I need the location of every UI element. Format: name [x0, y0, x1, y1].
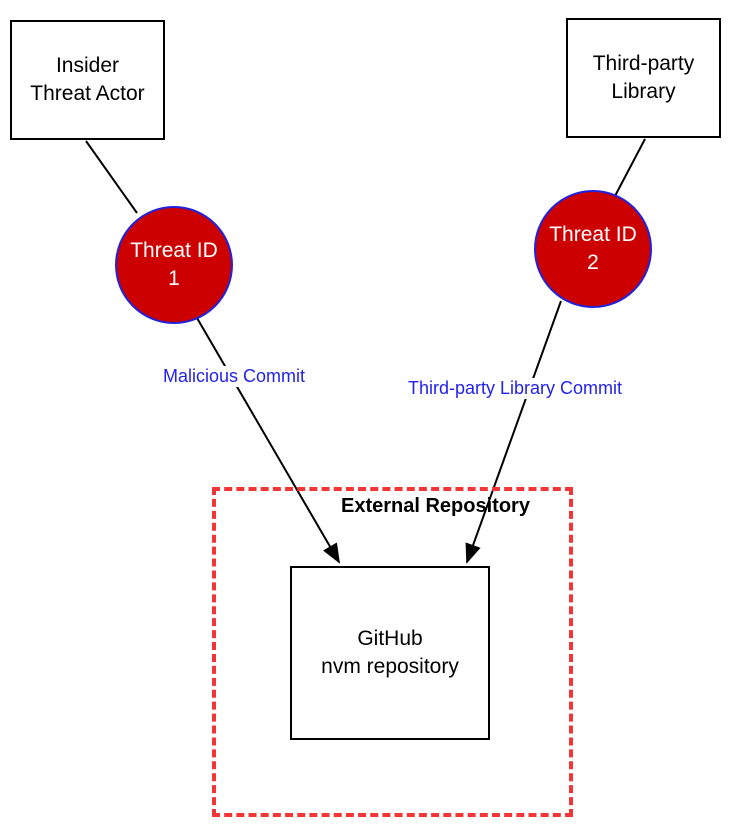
node-github-nvm-repository-line2: nvm repository — [321, 655, 459, 678]
node-threat-id-1-line2: 1 — [168, 267, 180, 290]
node-github-nvm-repository[interactable]: GitHub nvm repository — [290, 566, 490, 740]
node-github-nvm-repository-label: GitHub nvm repository — [321, 625, 459, 680]
edge-insider-to-threat1 — [86, 141, 137, 213]
node-insider-threat-actor[interactable]: Insider Threat Actor — [10, 20, 165, 140]
node-threat-id-2-label: Threat ID 2 — [549, 221, 637, 276]
node-third-party-library-line2: Library — [611, 80, 675, 103]
edge-library-to-threat2 — [615, 139, 645, 196]
node-insider-threat-actor-label: Insider Threat Actor — [30, 52, 144, 107]
node-third-party-library[interactable]: Third-party Library — [566, 18, 721, 138]
node-threat-id-1[interactable]: Threat ID 1 — [115, 206, 233, 324]
node-threat-id-2-line2: 2 — [587, 251, 599, 274]
node-third-party-library-label: Third-party Library — [593, 50, 695, 105]
node-threat-id-1-label: Threat ID 1 — [130, 237, 218, 292]
node-third-party-library-line1: Third-party — [593, 52, 695, 75]
node-insider-threat-actor-line1: Insider — [56, 54, 119, 77]
node-insider-threat-actor-line2: Threat Actor — [30, 82, 144, 105]
external-repository-zone-label: External Repository — [341, 495, 530, 518]
edge-label-malicious-commit: Malicious Commit — [161, 366, 307, 387]
node-threat-id-1-line1: Threat ID — [130, 239, 218, 262]
node-threat-id-2-line1: Threat ID — [549, 223, 637, 246]
node-github-nvm-repository-line1: GitHub — [357, 627, 422, 650]
edge-label-third-party-library-commit: Third-party Library Commit — [406, 378, 624, 399]
diagram-canvas: External Repository Insider Threat Actor… — [0, 0, 733, 830]
node-threat-id-2[interactable]: Threat ID 2 — [534, 190, 652, 308]
